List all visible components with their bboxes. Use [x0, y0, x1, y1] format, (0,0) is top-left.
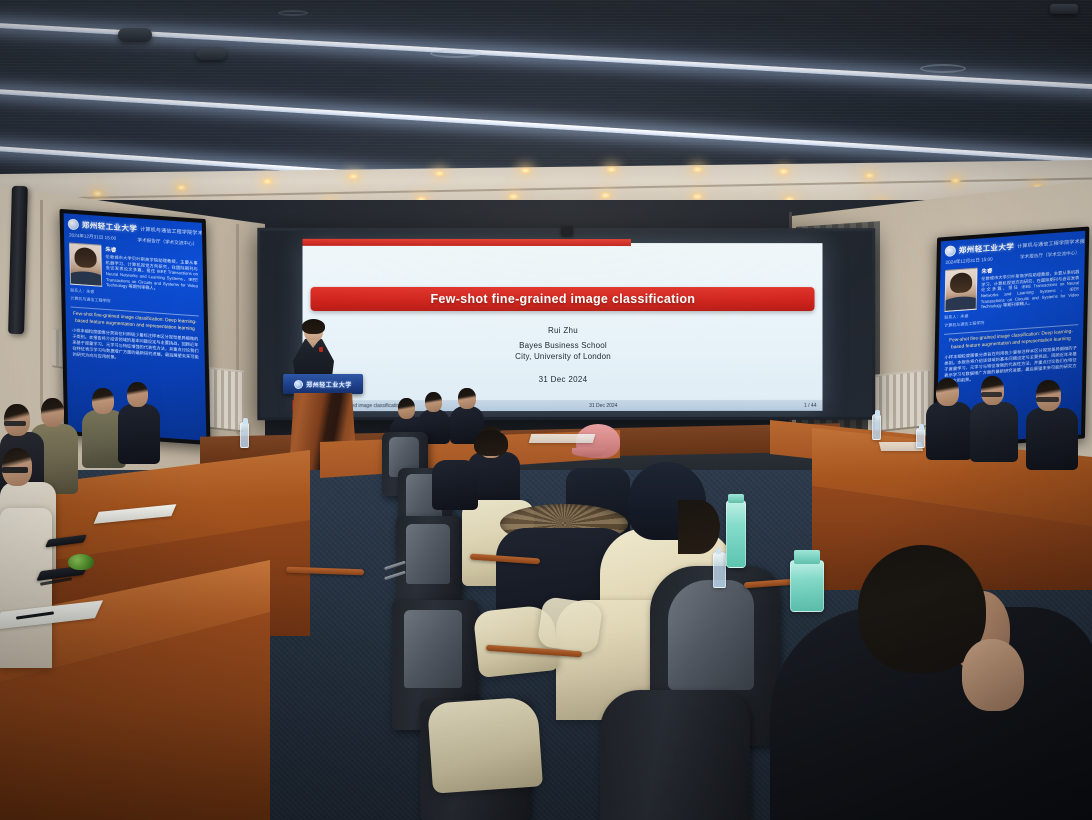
- person-head: [1036, 380, 1061, 411]
- person-hair: [474, 430, 508, 456]
- poster-banner: 计算机与通信工程学院学术报告: [1017, 237, 1085, 249]
- lecture-chair[interactable]: [396, 516, 462, 612]
- eyeglasses-icon: [1036, 397, 1059, 402]
- audience-person: [970, 376, 1018, 462]
- bottle-cap: [728, 494, 744, 503]
- person-coat: [970, 402, 1018, 462]
- person-head: [92, 388, 114, 414]
- slide-author: Rui Zhu: [302, 326, 822, 335]
- ceiling-fixture-icon: [1050, 4, 1078, 14]
- person-coat: [0, 508, 52, 668]
- person-head: [41, 398, 64, 427]
- audience-person: [926, 378, 972, 460]
- person-head: [127, 382, 148, 407]
- ceiling-ring-icon: [278, 10, 308, 16]
- eyeglasses-icon: [981, 392, 1002, 397]
- speaker-bio: 伦敦城市大学贝叶斯商学院助理教授，主要从事机器学习、计算机视觉方向研究，在国际期…: [981, 269, 1080, 310]
- slide-footer-center: 31 Dec 2024: [589, 402, 617, 408]
- lecture-chair[interactable]: [600, 690, 750, 820]
- ceiling-led-strip-1: [0, 22, 1092, 91]
- university-logo-icon: [945, 245, 956, 257]
- speaker-photo: [69, 243, 102, 287]
- audience-person: [0, 508, 52, 668]
- presenter-hair: [302, 319, 325, 334]
- screen-sensor-icon: [561, 226, 573, 236]
- ceiling-fixture-icon: [196, 48, 226, 60]
- eyeglasses-icon: [4, 421, 26, 426]
- presenter: [290, 320, 336, 382]
- slide-title: Few-shot fine-grained image classificati…: [311, 287, 815, 311]
- ceiling-fixture-icon: [118, 28, 152, 42]
- ceiling-ring-icon: [920, 64, 966, 73]
- cap-brim: [572, 448, 606, 457]
- slide-footer-right: 1 / 44: [804, 402, 816, 408]
- person-coat: [118, 404, 160, 464]
- slide-footer: Few-shot fine-grained image classificati…: [302, 400, 822, 411]
- person-coat: [432, 460, 478, 510]
- slide-date: 31 Dec 2024: [302, 375, 822, 384]
- person-head: [425, 392, 442, 412]
- teal-water-bottle[interactable]: [790, 560, 824, 612]
- potted-plant: [68, 554, 94, 570]
- audience-person: [118, 382, 160, 464]
- ceiling-led-strip-2: [0, 88, 1092, 165]
- speaker-bio: 伦敦城市大学贝叶斯商学院助理教授，主要从事机器学习、计算机视觉方向研究，在国际期…: [105, 254, 198, 294]
- person-head: [398, 398, 415, 419]
- bottle-cap: [794, 550, 820, 564]
- podium-nameplate: 郑州轻工业大学: [283, 374, 363, 394]
- audience-person: [1026, 380, 1078, 470]
- water-bottle[interactable]: [713, 552, 726, 588]
- eyeglasses-icon: [2, 467, 28, 473]
- university-emblem-icon: [294, 380, 303, 389]
- person-head: [458, 388, 476, 409]
- presenter-badge: [319, 347, 323, 352]
- person-hair: [678, 500, 720, 554]
- person-head: [981, 376, 1004, 405]
- slide-affiliation: Bayes Business School City, University o…: [302, 341, 822, 363]
- paper-sheet: [529, 434, 596, 443]
- water-bottle[interactable]: [240, 422, 249, 448]
- university-logo-icon: [68, 218, 79, 230]
- person-coat: [1026, 408, 1078, 470]
- water-bottle[interactable]: [916, 428, 925, 448]
- ceiling-ring-icon: [430, 49, 482, 58]
- foreground-person-hand: [962, 639, 1024, 711]
- draped-coat: [537, 596, 603, 654]
- presentation-slide: Few-shot fine-grained image classificati…: [302, 243, 822, 411]
- podium-nameplate-text: 郑州轻工业大学: [306, 380, 352, 389]
- slide-top-accent-bar: [302, 239, 630, 246]
- person-head: [936, 378, 959, 406]
- person-coat: [926, 402, 972, 460]
- water-bottle[interactable]: [872, 414, 881, 440]
- teal-water-bottle[interactable]: [726, 500, 746, 568]
- lecture-hall-photo: 郑州轻工业大学 计算机与通信工程学院学术报告 2024年12月31日 15:00…: [0, 0, 1092, 820]
- wall-seam: [40, 200, 43, 410]
- slide-affiliation-line1: Bayes Business School: [302, 341, 822, 352]
- soffit-seam: [0, 178, 1092, 201]
- slide-affiliation-line2: City, University of London: [302, 352, 822, 363]
- audience-person: [432, 440, 478, 510]
- poster-banner: 计算机与通信工程学院学术报告: [140, 226, 206, 238]
- draped-coat: [427, 696, 543, 793]
- speaker-photo: [945, 268, 978, 312]
- person-head: [4, 404, 30, 436]
